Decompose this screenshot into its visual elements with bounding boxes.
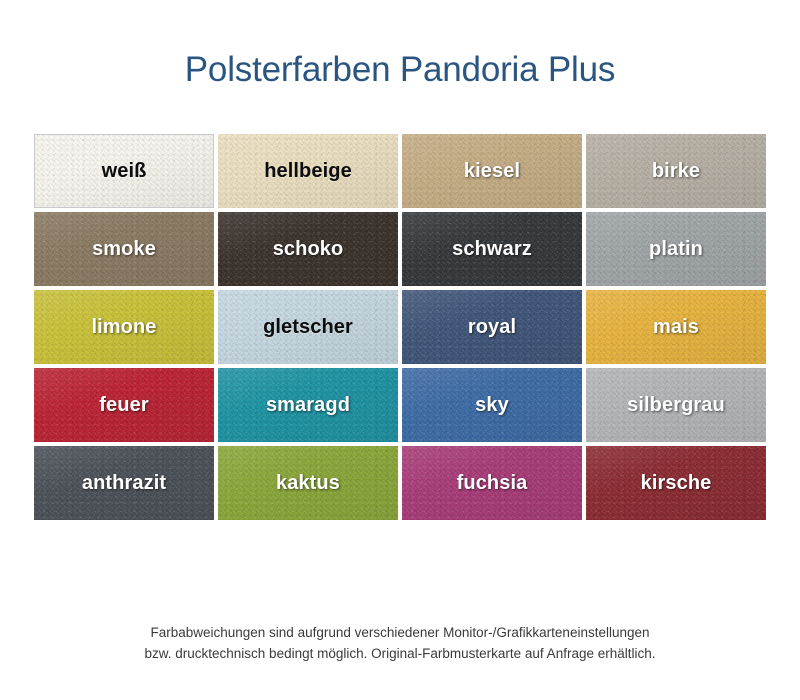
color-swatch-label: mais [653, 316, 699, 339]
color-swatch-kaktus[interactable]: kaktus [218, 446, 398, 520]
color-swatch-mais[interactable]: mais [586, 290, 766, 364]
color-swatch-label: schwarz [452, 238, 532, 261]
color-swatch-sky[interactable]: sky [402, 368, 582, 442]
color-swatch-label: limone [91, 316, 156, 339]
page-title: Polsterfarben Pandoria Plus [0, 50, 800, 90]
color-swatch-birke[interactable]: birke [586, 134, 766, 208]
color-swatch-label: kiesel [464, 160, 520, 183]
color-swatch-kirsche[interactable]: kirsche [586, 446, 766, 520]
color-swatch-label: anthrazit [82, 472, 166, 495]
color-swatch-gletscher[interactable]: gletscher [218, 290, 398, 364]
color-swatch-label: smoke [92, 238, 156, 261]
color-swatch-label: silbergrau [627, 394, 725, 417]
footnote-line-1: Farbabweichungen sind aufgrund verschied… [0, 622, 800, 643]
color-swatch-label: hellbeige [264, 160, 352, 183]
color-swatch-label: kirsche [641, 472, 712, 495]
color-swatch-label: weiß [102, 160, 147, 183]
color-swatch-label: schoko [273, 238, 344, 261]
footnote-line-2: bzw. drucktechnisch bedingt möglich. Ori… [0, 643, 800, 664]
color-swatch-smaragd[interactable]: smaragd [218, 368, 398, 442]
color-swatch-label: royal [468, 316, 516, 339]
color-swatch-fuchsia[interactable]: fuchsia [402, 446, 582, 520]
color-swatch-royal[interactable]: royal [402, 290, 582, 364]
color-swatch-label: platin [649, 238, 703, 261]
footnote: Farbabweichungen sind aufgrund verschied… [0, 622, 800, 664]
color-swatch-limone[interactable]: limone [34, 290, 214, 364]
color-swatch-label: fuchsia [457, 472, 528, 495]
color-swatch-grid: weißhellbeigekieselbirkesmokeschokoschwa… [34, 134, 766, 520]
color-swatch-label: sky [475, 394, 509, 417]
color-swatch-schwarz[interactable]: schwarz [402, 212, 582, 286]
color-swatch-anthrazit[interactable]: anthrazit [34, 446, 214, 520]
color-swatch-kiesel[interactable]: kiesel [402, 134, 582, 208]
color-swatch-feuer[interactable]: feuer [34, 368, 214, 442]
color-swatch-platin[interactable]: platin [586, 212, 766, 286]
color-swatch-label: kaktus [276, 472, 340, 495]
color-swatch-silbergrau[interactable]: silbergrau [586, 368, 766, 442]
color-swatch-label: feuer [99, 394, 148, 417]
color-swatch-label: smaragd [266, 394, 350, 417]
color-swatch-smoke[interactable]: smoke [34, 212, 214, 286]
color-swatch-hellbeige[interactable]: hellbeige [218, 134, 398, 208]
color-swatch-label: gletscher [263, 316, 353, 339]
color-swatch-label: birke [652, 160, 700, 183]
color-swatch-wei-[interactable]: weiß [34, 134, 214, 208]
color-swatch-schoko[interactable]: schoko [218, 212, 398, 286]
